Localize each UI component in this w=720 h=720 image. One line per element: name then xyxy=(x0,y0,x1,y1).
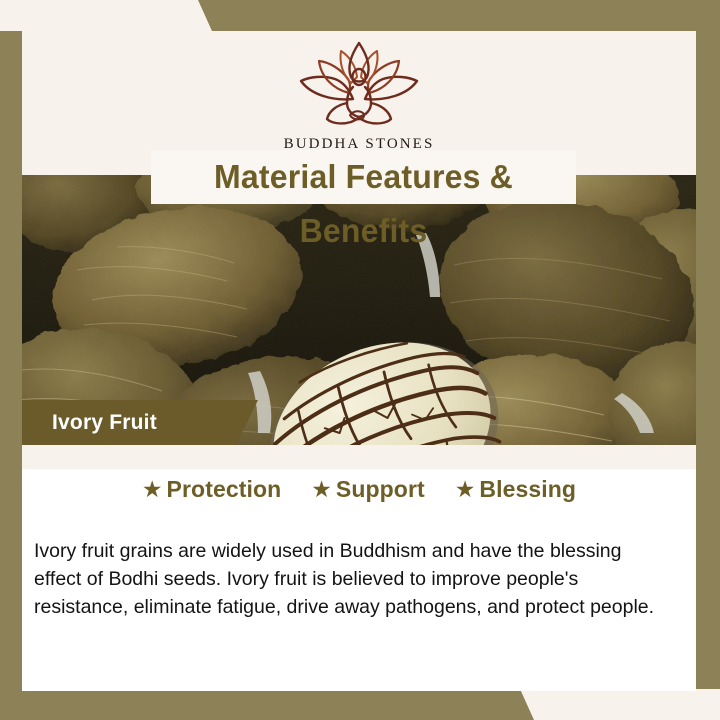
star-icon: ★ xyxy=(311,478,332,501)
benefit-item-support: ★ Support xyxy=(311,476,424,503)
page-title: Material Features & Benefits xyxy=(151,150,576,204)
benefit-label: Protection xyxy=(167,476,282,503)
photo-caption-banner: Ivory Fruit xyxy=(22,400,258,445)
page-title-text: Material Features & Benefits xyxy=(157,150,569,258)
star-icon: ★ xyxy=(455,478,476,501)
photo-caption-text: Ivory Fruit xyxy=(22,400,258,445)
content-card: BUDDHA STONES Material Features & Benefi… xyxy=(22,31,696,691)
frame-top-left-notch xyxy=(0,0,212,32)
benefit-label: Support xyxy=(336,476,425,503)
frame-left-bar xyxy=(0,31,22,691)
frame-right-bar xyxy=(696,0,720,720)
benefits-row: ★ Protection ★ Support ★ Blessing xyxy=(22,469,696,509)
benefit-label: Blessing xyxy=(479,476,576,503)
description-text: Ivory fruit grains are widely used in Bu… xyxy=(22,529,696,621)
brand-logo: BUDDHA STONES xyxy=(22,37,696,153)
benefit-item-blessing: ★ Blessing xyxy=(455,476,576,503)
frame-bottom-right-notch xyxy=(520,689,720,720)
benefit-item-protection: ★ Protection xyxy=(142,476,281,503)
material-features-infographic: BUDDHA STONES Material Features & Benefi… xyxy=(0,0,720,720)
star-icon: ★ xyxy=(142,478,163,501)
lotus-meditation-icon xyxy=(279,37,439,135)
benefits-spacer xyxy=(22,445,696,469)
